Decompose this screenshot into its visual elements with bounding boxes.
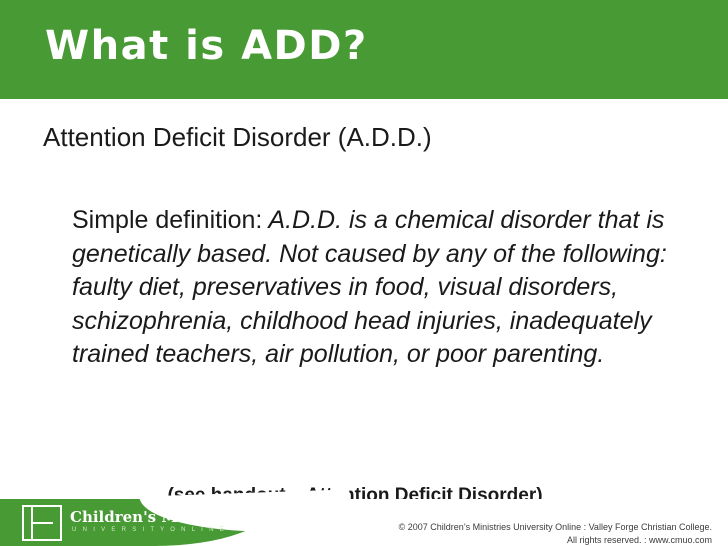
open-book-logo-icon [22,505,62,541]
title-bar: What is ADD? [0,0,728,99]
slide-body: Attention Deficit Disorder (A.D.D.) Simp… [0,99,728,499]
definition-paragraph: Simple definition: A.D.D. is a chemical … [72,204,682,372]
definition-label: Simple definition: [72,206,262,234]
slide: What is ADD? Attention Deficit Disorder … [0,0,728,546]
slide-footer: Children's Ministries U N I V E R S I T … [0,499,728,546]
lead-line: Attention Deficit Disorder (A.D.D.) [43,122,432,153]
copyright-line-1: © 2007 Children’s Ministries University … [399,521,712,534]
logo-text: Children's Ministries [70,508,247,526]
page-title: What is ADD? [45,23,368,69]
logo-subtitle: U N I V E R S I T Y O N L I N E [72,527,226,533]
copyright-notice: © 2007 Children’s Ministries University … [399,521,712,546]
copyright-line-2: All rights reserved. : www.cmuo.com [399,534,712,546]
